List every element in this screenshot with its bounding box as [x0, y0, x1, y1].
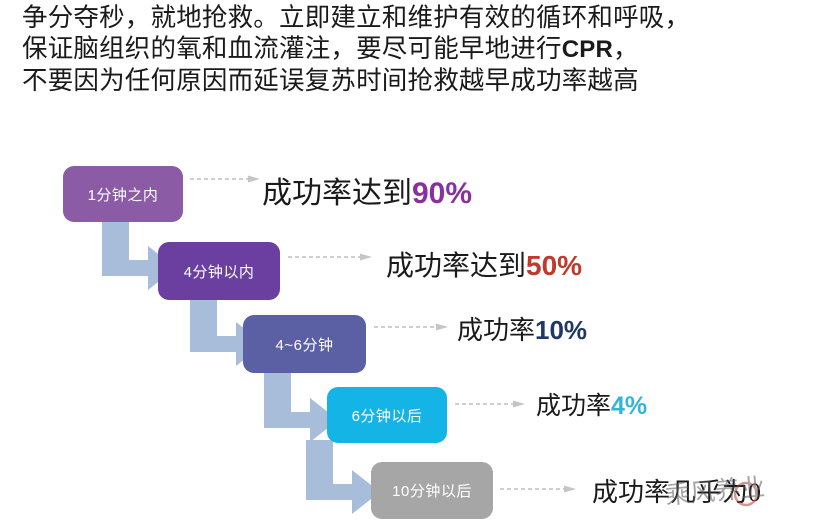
dash-arrow-3: [374, 322, 450, 332]
success-rate-caption-4: 成功率4%: [536, 386, 647, 422]
success-rate-prefix-2: 成功率达到: [386, 251, 526, 282]
step-box-4-label: 6分钟以后: [352, 405, 423, 426]
step-box-4[interactable]: 6分钟以后: [327, 387, 447, 443]
dash-arrow-5: [500, 484, 578, 494]
success-rate-prefix-1: 成功率达到: [262, 177, 412, 210]
dash-arrow-2: [288, 252, 374, 262]
step-box-1[interactable]: 1分钟之内: [63, 166, 183, 222]
dash-arrow-4: [455, 399, 527, 409]
dash-arrow-1: [190, 174, 262, 184]
step-box-5-label: 10分钟以后: [392, 480, 472, 501]
success-rate-caption-5: 成功率几乎为0: [592, 472, 761, 509]
success-rate-value-5: 几乎为0: [670, 478, 761, 507]
success-rate-caption-2: 成功率达到50%: [386, 244, 582, 284]
cascading-step-diagram: 1分钟之内 4分钟以内 4~6分钟 6分钟以后 10分钟以后 成功率达到90% …: [0, 0, 820, 529]
success-rate-value-3: 10%: [535, 315, 587, 345]
success-rate-prefix-5: 成功率: [592, 478, 670, 507]
step-box-2[interactable]: 4分钟以内: [158, 242, 280, 300]
step-box-3[interactable]: 4~6分钟: [243, 315, 366, 373]
success-rate-caption-3: 成功率10%: [457, 310, 587, 347]
success-rate-prefix-4: 成功率: [536, 393, 611, 420]
success-rate-caption-1: 成功率达到90%: [262, 168, 472, 212]
step-box-2-label: 4分钟以内: [184, 261, 255, 282]
step-box-1-label: 1分钟之内: [88, 184, 159, 205]
success-rate-value-2: 50%: [526, 250, 582, 281]
success-rate-value-4: 4%: [611, 392, 647, 420]
step-box-3-label: 4~6分钟: [276, 334, 334, 355]
step-box-5[interactable]: 10分钟以后: [371, 462, 493, 519]
success-rate-prefix-3: 成功率: [457, 316, 535, 345]
success-rate-value-1: 90%: [412, 177, 472, 210]
